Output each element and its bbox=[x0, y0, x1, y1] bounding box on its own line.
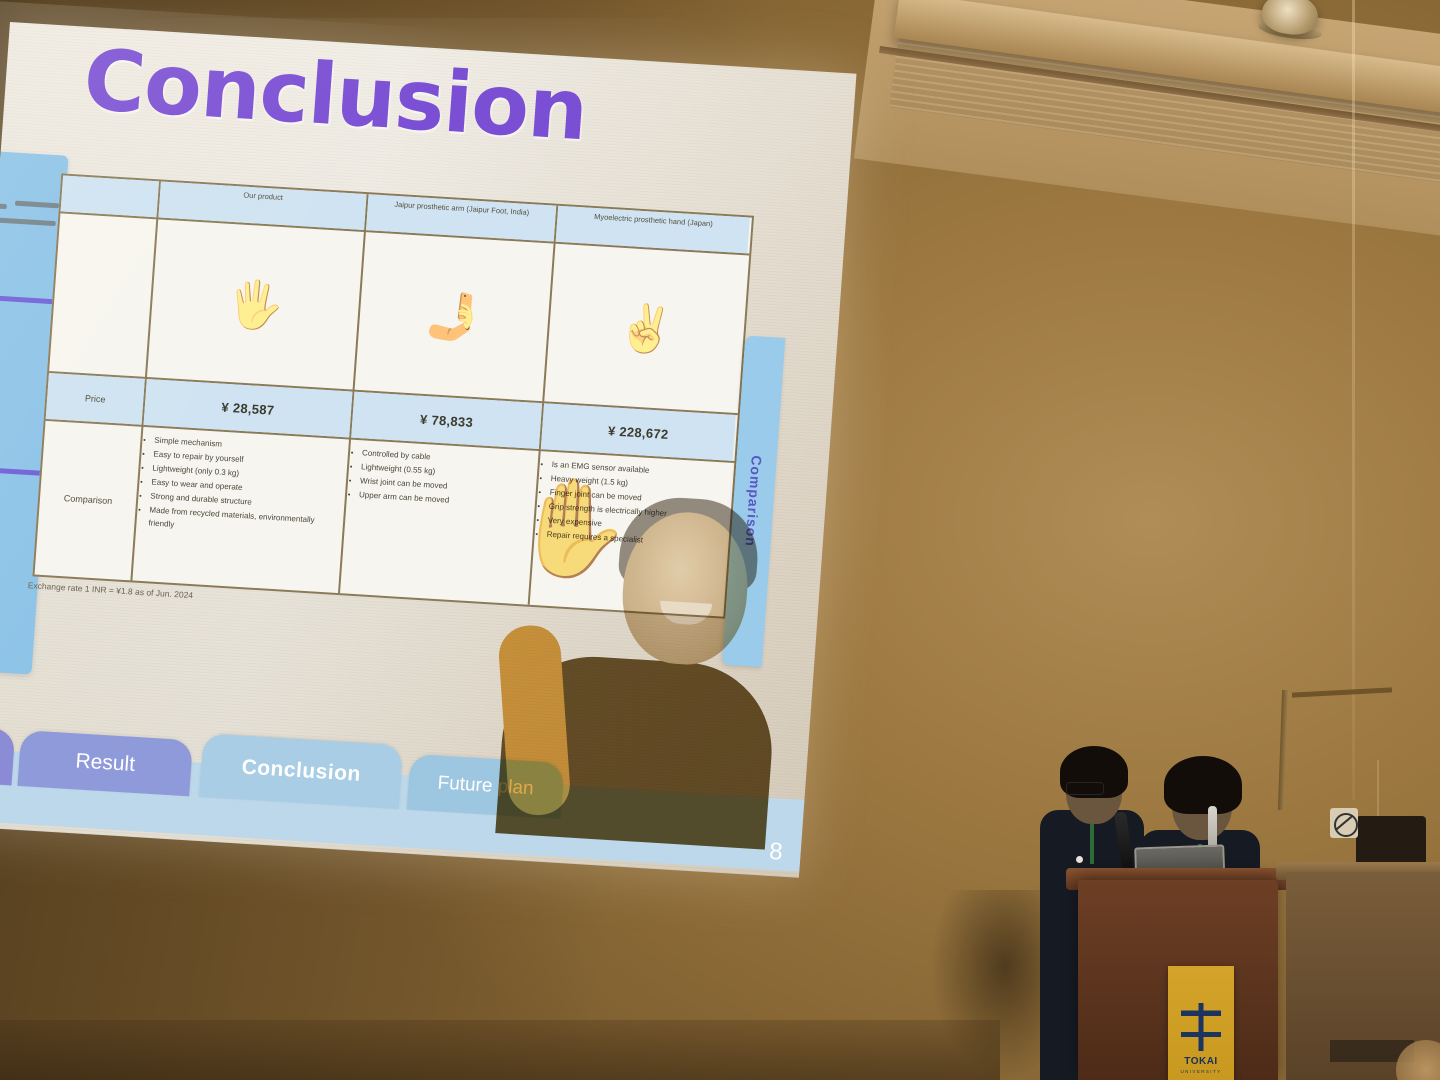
product-image-cell-3: ✌ bbox=[544, 244, 747, 413]
price-row-label: Price bbox=[46, 373, 145, 425]
comparison-row-label: Comparison bbox=[35, 421, 142, 578]
presentation-photo-scene: Conclusion Our product Jaipur prosthetic… bbox=[0, 0, 1440, 1080]
tokai-logo-subtitle: UNIVERSITY bbox=[1180, 1069, 1221, 1074]
jaipur-arm-icon: 🤳 bbox=[355, 232, 554, 401]
features-cell-1: Simple mechanism Easy to repair by yours… bbox=[133, 427, 349, 591]
feature-list-1: Simple mechanism Easy to repair by yours… bbox=[136, 427, 349, 547]
tokai-university-logo: TOKAI UNIVERSITY bbox=[1168, 966, 1234, 1080]
nav-tab-conclusion[interactable]: Conclusion bbox=[199, 733, 403, 809]
product-image-cell-1: 🖐 bbox=[147, 219, 364, 389]
wall-seam bbox=[1352, 0, 1355, 800]
projected-slide: Conclusion Our product Jaipur prosthetic… bbox=[0, 22, 878, 903]
prosthetic-hand-icon: 🖐 bbox=[147, 219, 364, 389]
myoelectric-hand-icon: ✌ bbox=[544, 244, 747, 413]
product-image-cell-2: 🤳 bbox=[355, 232, 554, 401]
no-photography-sign-icon bbox=[1330, 808, 1358, 838]
page-number: 8 bbox=[768, 838, 783, 867]
glasses-icon bbox=[1066, 782, 1104, 795]
tokai-logo-name: TOKAI bbox=[1184, 1057, 1217, 1067]
floor-shadow bbox=[0, 1020, 1000, 1080]
tokai-emblem-icon bbox=[1181, 1003, 1221, 1051]
overlay-photo-prosthetic-user: ✋ bbox=[473, 473, 798, 850]
prosthetic-hand-photo-icon: ✋ bbox=[506, 478, 627, 634]
table-header-corner bbox=[61, 176, 159, 218]
nav-tab-result[interactable]: Result bbox=[17, 730, 193, 796]
slide-canvas: Conclusion Our product Jaipur prosthetic… bbox=[0, 22, 856, 878]
